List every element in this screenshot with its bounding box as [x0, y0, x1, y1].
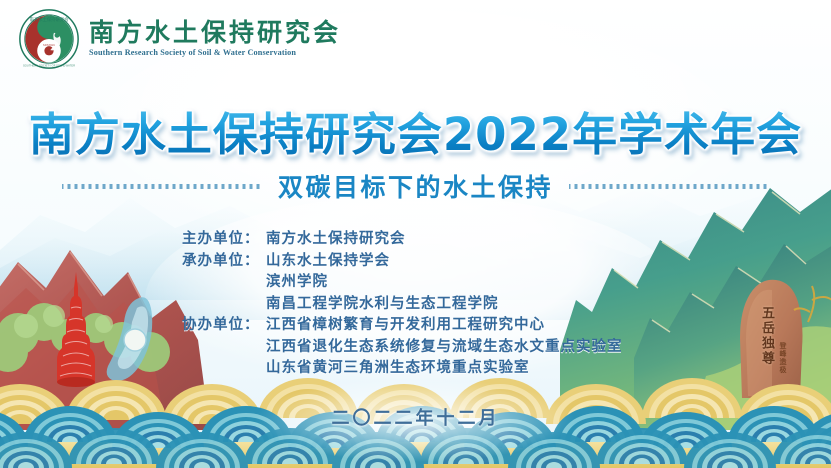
society-name-cn: 南方水土保持研究会 [89, 20, 341, 45]
organizer-row: 南昌工程学院水利与生态工程学院 [182, 293, 623, 315]
organizer-row: 滨州学院 [182, 271, 623, 293]
organizer-value: 江西省退化生态系统修复与流域生态水文重点实验室 [266, 336, 623, 358]
dotted-rule-left [62, 184, 262, 189]
svg-text:2012: 2012 [47, 49, 52, 51]
conference-poster: 南方水土保持研究会 SRSSWC 2012 SOUTHERN SOCIETY O… [0, 0, 831, 468]
organizer-value: 江西省樟树繁育与开发利用工程研究中心 [266, 314, 545, 336]
subtitle-row: 双碳目标下的水土保持 [0, 168, 831, 204]
stele-inscription: 五岳独尊 [757, 306, 776, 366]
organizers-block: 主办单位： 南方水土保持研究会 承办单位： 山东水土保持学会 滨州学院 南昌工程… [182, 228, 623, 379]
organizer-row: 山东省黄河三角洲生态环境重点实验室 [182, 357, 623, 379]
organizer-row: 江西省退化生态系统修复与流域生态水文重点实验室 [182, 336, 623, 358]
event-date: 二〇二二年十二月 [0, 404, 831, 430]
organizer-label: 协办单位： [182, 314, 266, 336]
society-name-en: Southern Research Society of Soil & Wate… [89, 49, 341, 57]
organizer-row: 主办单位： 南方水土保持研究会 [182, 228, 623, 250]
organizer-value: 南昌工程学院水利与生态工程学院 [266, 293, 499, 315]
svg-text:SRSSWC: SRSSWC [43, 43, 55, 47]
organizer-row: 协办单位： 江西省樟树繁育与开发利用工程研究中心 [182, 314, 623, 336]
society-emblem-icon: 南方水土保持研究会 SRSSWC 2012 SOUTHERN SOCIETY O… [18, 8, 80, 70]
organizer-value: 滨州学院 [266, 271, 328, 293]
society-name-block: 南方水土保持研究会 Southern Research Society of S… [89, 20, 341, 57]
subtitle: 双碳目标下的水土保持 [278, 168, 553, 204]
organizer-row: 承办单位： 山东水土保持学会 [182, 250, 623, 272]
dotted-rule-right [569, 184, 769, 189]
svg-text:SOUTHERN SOCIETY OF SOIL & WAT: SOUTHERN SOCIETY OF SOIL & WATER [23, 63, 75, 67]
organizer-value: 南方水土保持研究会 [266, 228, 406, 250]
organizer-value: 山东水土保持学会 [266, 250, 390, 272]
society-logo-block: 南方水土保持研究会 SRSSWC 2012 SOUTHERN SOCIETY O… [18, 8, 341, 70]
organizer-label: 主办单位： [182, 228, 266, 250]
stele-sub-inscription: 登峰造极 [778, 342, 788, 374]
organizer-value: 山东省黄河三角洲生态环境重点实验室 [266, 357, 530, 379]
main-title: 南方水土保持研究会2022年学术年会 [0, 98, 831, 163]
organizer-label: 承办单位： [182, 250, 266, 272]
